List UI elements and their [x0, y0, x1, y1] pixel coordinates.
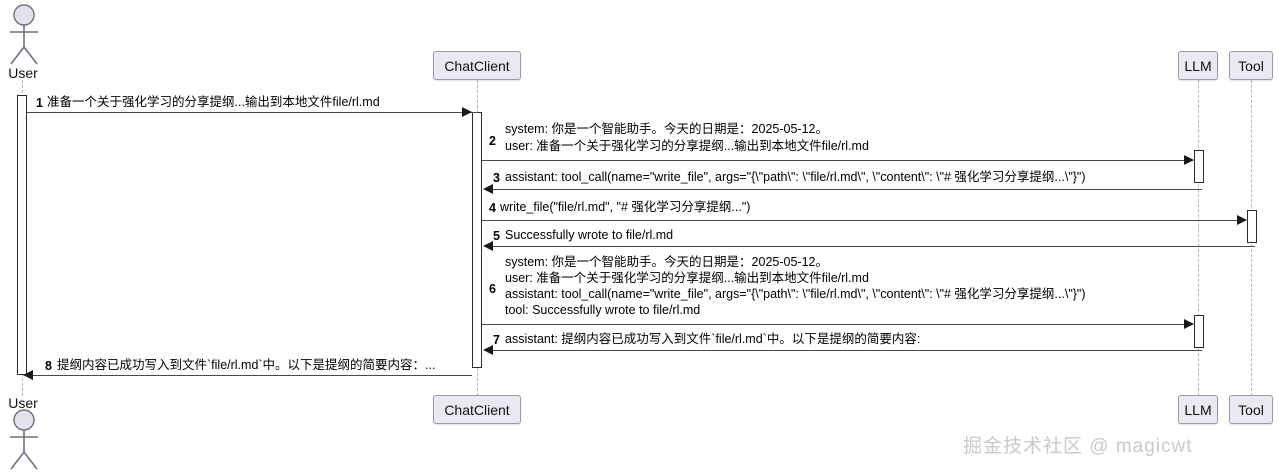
message-1-number: 1 [36, 97, 43, 110]
message-5-arrowhead [483, 241, 493, 251]
activation-chatclient [472, 112, 482, 368]
message-8-number: 8 [45, 360, 52, 373]
message-3-text: assistant: tool_call(name="write_file", … [505, 170, 1086, 186]
participant-chatclient-top-label: ChatClient [444, 59, 509, 73]
message-5-line [492, 246, 1255, 247]
message-2-text-line-2: user: 准备一个关于强化学习的分享提纲...输出到本地文件file/rl.m… [505, 139, 869, 155]
message-2-number: 2 [489, 135, 496, 148]
actor-user-bottom [2, 409, 46, 471]
message-3-arrowhead [483, 184, 493, 194]
participant-chatclient-top[interactable]: ChatClient [433, 51, 521, 80]
message-1-arrowhead [462, 107, 472, 117]
message-2-arrowhead [1184, 155, 1194, 165]
message-2-text-line-1: system: 你是一个智能助手。今天的日期是：2025-05-12。 [505, 122, 828, 138]
message-7-arrowhead [483, 345, 493, 355]
message-8-text: 提纲内容已成功写入到文件`file/rl.md`中。以下是提纲的简要内容：... [57, 358, 435, 374]
participant-llm-top[interactable]: LLM [1178, 51, 1218, 80]
sequence-diagram-canvas: User ChatClient LLM Tool 1 准备一个关于强化学习的分享… [0, 0, 1278, 475]
participant-chatclient-bottom-label: ChatClient [444, 403, 509, 417]
message-3-number: 3 [493, 172, 500, 185]
participant-llm-top-label: LLM [1184, 59, 1211, 73]
participant-llm-bottom-label: LLM [1184, 403, 1211, 417]
message-7-text: assistant: 提纲内容已成功写入到文件`file/rl.md`中。以下是… [505, 332, 920, 348]
participant-tool-top[interactable]: Tool [1229, 51, 1273, 80]
message-7-line [492, 350, 1202, 351]
message-2-line [482, 160, 1193, 161]
message-6-number: 6 [489, 283, 496, 296]
message-6-arrowhead [1184, 319, 1194, 329]
message-4-line [482, 220, 1246, 221]
activation-llm-2 [1194, 315, 1204, 348]
message-1-text: 准备一个关于强化学习的分享提纲...输出到本地文件file/rl.md [47, 95, 380, 111]
message-4-arrowhead [1237, 215, 1247, 225]
message-8-line [32, 375, 472, 376]
message-5-text: Successfully wrote to file/rl.md [505, 228, 673, 244]
message-6-text-line-2: user: 准备一个关于强化学习的分享提纲...输出到本地文件file/rl.m… [505, 271, 869, 287]
message-5-number: 5 [493, 230, 500, 243]
activation-tool-1 [1247, 210, 1257, 243]
message-6-line [482, 324, 1193, 325]
activation-llm-1 [1194, 150, 1204, 183]
participant-chatclient-bottom[interactable]: ChatClient [433, 395, 521, 424]
message-7-number: 7 [493, 334, 500, 347]
participant-llm-bottom[interactable]: LLM [1178, 395, 1218, 424]
watermark: 掘金技术社区 @ magicwt [963, 437, 1193, 456]
lifeline-llm [1198, 80, 1199, 396]
message-1-line [27, 112, 478, 113]
participant-tool-bottom-label: Tool [1238, 403, 1264, 417]
actor-user-top [2, 4, 46, 66]
message-6-text-line-1: system: 你是一个智能助手。今天的日期是：2025-05-12。 [505, 255, 828, 271]
participant-tool-bottom[interactable]: Tool [1229, 395, 1273, 424]
message-4-number: 4 [489, 202, 496, 215]
activation-user [17, 95, 27, 375]
message-3-line [492, 189, 1202, 190]
participant-tool-top-label: Tool [1238, 59, 1264, 73]
message-6-text-line-4: tool: Successfully wrote to file/rl.md [505, 303, 700, 319]
actor-user-top-label: User [0, 66, 46, 80]
message-8-arrowhead [23, 370, 33, 380]
actor-user-bottom-label: User [0, 396, 46, 410]
message-4-text: write_file("file/rl.md", "# 强化学习分享提纲..."… [500, 200, 750, 216]
message-6-text-line-3: assistant: tool_call(name="write_file", … [505, 287, 1086, 303]
